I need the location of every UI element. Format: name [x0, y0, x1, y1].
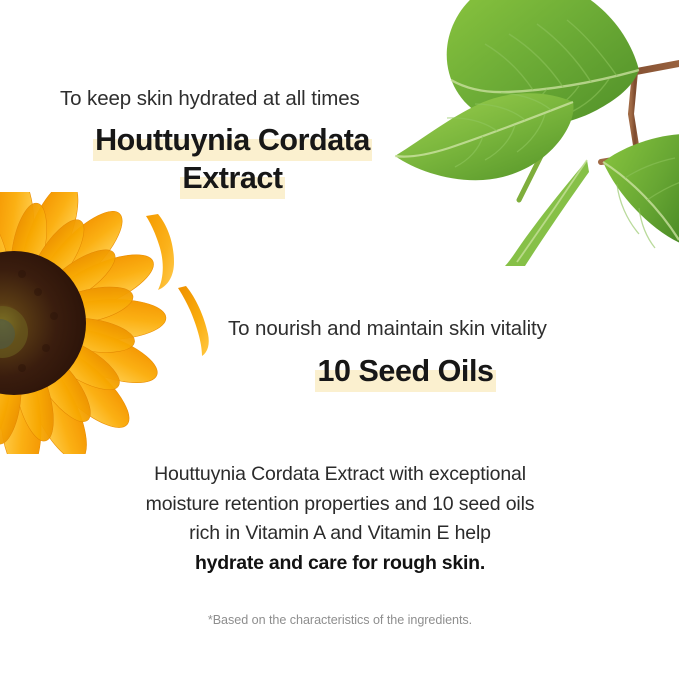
description-line-2: moisture retention properties and 10 see…: [100, 490, 580, 520]
description-line-4-bold: hydrate and care for rough skin.: [100, 549, 580, 579]
ingredient-two-block: To nourish and maintain skin vitality 10…: [228, 316, 583, 390]
leaf-blade-lower-left: [505, 160, 589, 266]
leaf-middle-left: [395, 93, 574, 180]
ingredient-one-headline: Houttuynia Cordata Extract: [60, 121, 405, 198]
description-paragraph: Houttuynia Cordata Extract with exceptio…: [100, 460, 580, 579]
product-ingredient-infographic: To keep skin hydrated at all times Houtt…: [0, 0, 679, 679]
leaf-stem: [519, 62, 679, 200]
ingredient-two-headline-text: 10 Seed Oils: [315, 354, 495, 392]
houttuynia-leaf-sprig-image: [387, 0, 679, 266]
leaf-upper: [447, 0, 639, 127]
sunflower-bloom-image: [0, 192, 228, 454]
leaf-lower-right: [603, 134, 679, 248]
petal-lower: [178, 286, 209, 356]
description-line-1: Houttuynia Cordata Extract with exceptio…: [100, 460, 580, 490]
petal-upper: [146, 214, 174, 290]
sunflower-seed-center: [0, 251, 86, 395]
ingredient-two-headline: 10 Seed Oils: [228, 352, 583, 391]
ingredient-one-headline-text: Houttuynia Cordata Extract: [93, 123, 372, 200]
sunflower-petals: [0, 192, 167, 454]
ingredient-two-kicker: To nourish and maintain skin vitality: [228, 316, 583, 342]
ingredient-one-kicker: To keep skin hydrated at all times: [60, 86, 405, 112]
description-line-3: rich in Vitamin A and Vitamin E help: [100, 519, 580, 549]
ingredient-one-block: To keep skin hydrated at all times Houtt…: [60, 86, 405, 198]
footnote: *Based on the characteristics of the ing…: [100, 613, 580, 627]
